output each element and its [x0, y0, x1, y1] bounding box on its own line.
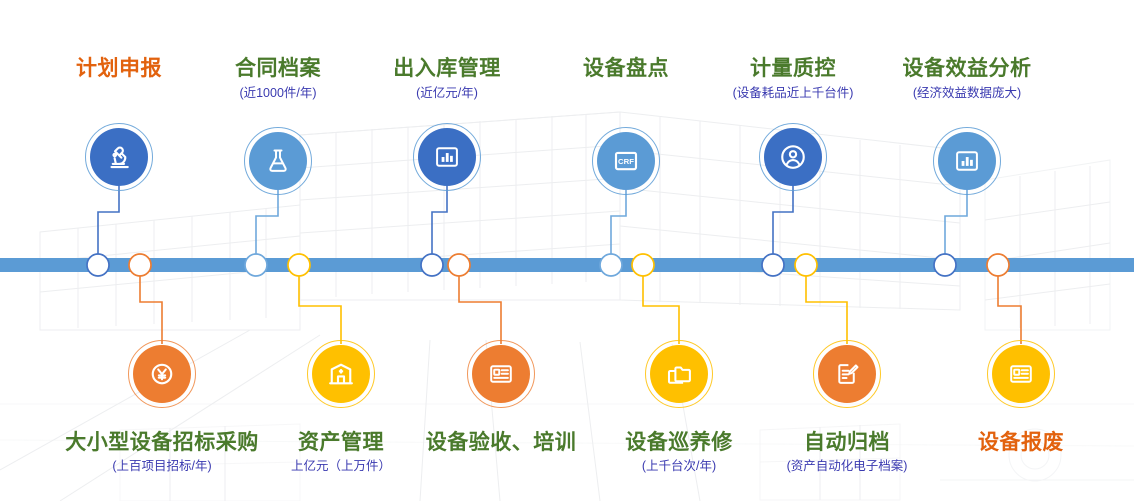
timeline-node — [762, 254, 784, 276]
top-subtitle-3: (近亿元/年) — [347, 86, 547, 100]
top-label-3: 出入库管理 (近亿元/年) — [347, 58, 547, 100]
user-badge-icon — [778, 142, 808, 172]
bottom-title-4: 设备巡养修 — [604, 432, 754, 454]
timeline-node — [288, 254, 310, 276]
folders-icon — [665, 360, 694, 389]
top-icon-2-flask-icon[interactable] — [249, 132, 307, 190]
bottom-label-4: 设备巡养修 (上千台次/年) — [604, 432, 754, 473]
bottom-title-2: 资产管理 — [251, 432, 431, 454]
flask-icon — [264, 147, 292, 175]
hospital-icon — [326, 359, 356, 389]
bottom-label-3: 设备验收、培训 — [411, 432, 591, 459]
top-label-6: 设备效益分析 (经济效益数据庞大) — [867, 58, 1067, 100]
top-icon-5-user-badge-icon[interactable] — [764, 128, 822, 186]
id-card-icon — [487, 360, 515, 388]
timeline-node — [448, 254, 470, 276]
top-icon-4-crf-icon[interactable]: CRF — [597, 132, 655, 190]
top-title-3: 出入库管理 — [347, 58, 547, 80]
bar-chart-icon — [433, 143, 461, 171]
bottom-icon-4-folders-icon[interactable] — [650, 345, 708, 403]
bottom-title-6: 设备报废 — [951, 432, 1091, 454]
bottom-icon-3-id-card-icon[interactable] — [472, 345, 530, 403]
bottom-label-6: 设备报废 — [951, 432, 1091, 459]
top-icon-3-bar-chart-icon[interactable] — [418, 128, 476, 186]
bottom-label-5: 自动归档 (资产自动化电子档案) — [767, 432, 927, 473]
bottom-title-5: 自动归档 — [767, 432, 927, 454]
bottom-subtitle-2: 上亿元（上万件） — [251, 459, 431, 473]
timeline-node — [129, 254, 151, 276]
crf-icon: CRF — [611, 146, 641, 176]
bottom-label-2: 资产管理 上亿元（上万件） — [251, 432, 431, 473]
microscope-icon — [104, 142, 134, 172]
bottom-title-1: 大小型设备招标采购 — [42, 432, 282, 454]
timeline-node — [87, 254, 109, 276]
top-icon-6-bar-chart-icon[interactable] — [938, 132, 996, 190]
top-title-5: 计量质控 — [693, 58, 893, 80]
top-subtitle-5: (设备耗品近上千台件) — [693, 86, 893, 100]
bottom-icon-1-yuan-coin-icon[interactable] — [133, 345, 191, 403]
timeline-bar — [0, 258, 1134, 272]
yuan-coin-icon — [147, 359, 177, 389]
infographic-canvas: 计划申报 合同档案 (近1000件/年) 出入库管理 (近亿元/年) — [0, 0, 1134, 501]
top-label-5: 计量质控 (设备耗品近上千台件) — [693, 58, 893, 100]
bar-chart-icon — [953, 147, 981, 175]
top-icon-1-microscope-icon[interactable] — [90, 128, 148, 186]
bottom-subtitle-4: (上千台次/年) — [604, 459, 754, 473]
top-title-6: 设备效益分析 — [867, 58, 1067, 80]
bottom-subtitle-1: (上百项目招标/年) — [42, 459, 282, 473]
bottom-label-1: 大小型设备招标采购 (上百项目招标/年) — [42, 432, 282, 473]
svg-text:CRF: CRF — [618, 157, 634, 166]
timeline-node — [421, 254, 443, 276]
timeline-node — [987, 254, 1009, 276]
id-card-icon — [1007, 360, 1035, 388]
bottom-subtitle-5: (资产自动化电子档案) — [767, 459, 927, 473]
top-subtitle-6: (经济效益数据庞大) — [867, 86, 1067, 100]
document-edit-icon — [833, 360, 861, 388]
timeline-node — [600, 254, 622, 276]
bottom-icon-5-document-edit-icon[interactable] — [818, 345, 876, 403]
bottom-icon-2-hospital-icon[interactable] — [312, 345, 370, 403]
timeline-node — [632, 254, 654, 276]
bottom-icon-6-id-card-icon[interactable] — [992, 345, 1050, 403]
bottom-title-3: 设备验收、培训 — [411, 432, 591, 454]
timeline-node — [245, 254, 267, 276]
timeline-node — [934, 254, 956, 276]
timeline-node — [795, 254, 817, 276]
